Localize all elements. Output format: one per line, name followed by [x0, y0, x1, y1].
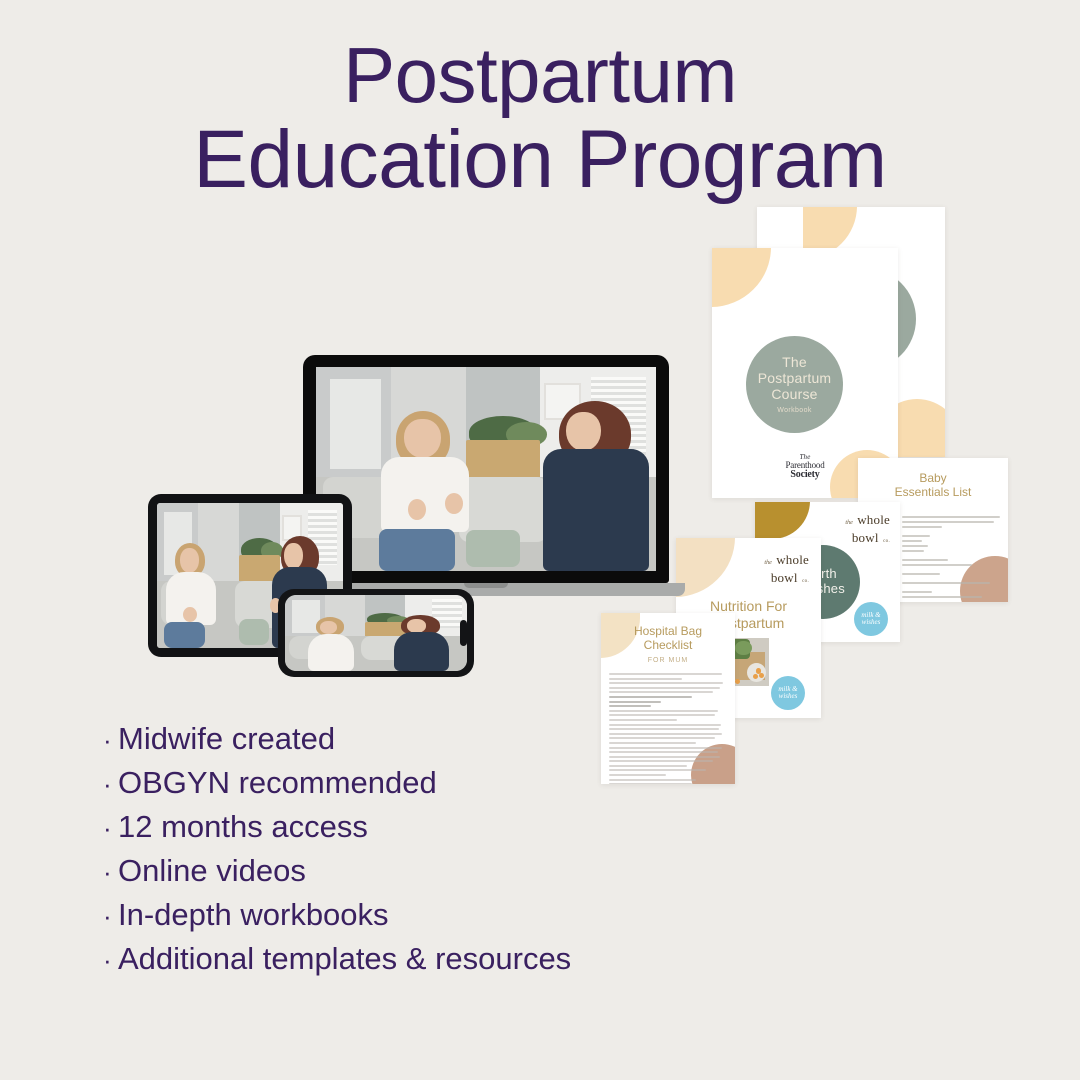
- feature-list: · Midwife created · OBGYN recommended · …: [103, 723, 743, 987]
- whole-bowl-logo: the whole bowl co.: [845, 511, 890, 547]
- milk-and-wishes-badge: milk & wishes: [854, 602, 888, 636]
- baby-essentials-title: Baby Essentials List: [858, 472, 1008, 500]
- page-title: Postpartum Education Program: [0, 38, 1080, 199]
- bullet-icon: ·: [103, 903, 118, 929]
- person-blonde: [164, 541, 227, 648]
- list-item-label: In-depth workbooks: [118, 899, 389, 930]
- list-item: · Additional templates & resources: [103, 943, 743, 987]
- whole-bowl-logo: the whole bowl co.: [764, 551, 809, 587]
- title-line-2: Education Program: [0, 120, 1080, 200]
- bullet-icon: ·: [103, 771, 118, 797]
- document-body-text: [902, 516, 1002, 601]
- phone-screen[interactable]: [285, 595, 467, 671]
- bullet-icon: ·: [103, 815, 118, 841]
- list-item-label: Midwife created: [118, 723, 335, 754]
- postpartum-course-title: The Postpartum Course: [758, 355, 832, 402]
- bullet-icon: ·: [103, 947, 118, 973]
- phone-device-mockup: [278, 589, 474, 677]
- gold-shape-icon: [755, 502, 810, 539]
- hospital-bag-subtitle: FOR MUM: [601, 657, 735, 664]
- postpartum-course-badge: The Postpartum Course Workbook: [746, 336, 843, 433]
- phone-notch-icon: [460, 620, 467, 646]
- list-item: · OBGYN recommended: [103, 767, 743, 811]
- milk-and-wishes-badge: milk & wishes: [771, 676, 805, 710]
- bullet-icon: ·: [103, 727, 118, 753]
- cream-shape-icon: [712, 248, 771, 307]
- list-item: · Midwife created: [103, 723, 743, 767]
- list-item-label: 12 months access: [118, 811, 368, 842]
- list-item-label: Online videos: [118, 855, 306, 886]
- list-item-label: Additional templates & resources: [118, 943, 571, 974]
- list-item: · In-depth workbooks: [103, 899, 743, 943]
- person-blonde: [307, 616, 362, 671]
- laptop-screen[interactable]: [316, 367, 656, 571]
- title-line-1: Postpartum: [0, 38, 1080, 114]
- laptop-hinge-notch-icon: [464, 583, 508, 588]
- course-video-still: [285, 595, 467, 671]
- parenthood-society-logo: The Parenthood Society: [779, 454, 831, 480]
- bullet-icon: ·: [103, 859, 118, 885]
- laptop-device-mockup: [303, 355, 669, 603]
- person-blonde: [374, 408, 496, 571]
- person-brunette: [394, 615, 452, 671]
- person-brunette: [540, 400, 656, 571]
- postpartum-course-subtitle: Workbook: [777, 407, 812, 414]
- list-item: · 12 months access: [103, 811, 743, 855]
- hospital-bag-title: Hospital Bag Checklist: [601, 625, 735, 653]
- course-video-still: [316, 367, 656, 571]
- list-item-label: OBGYN recommended: [118, 767, 437, 798]
- list-item: · Online videos: [103, 855, 743, 899]
- poster-canvas: Postpartum Education Program The Birth C…: [0, 0, 1080, 1080]
